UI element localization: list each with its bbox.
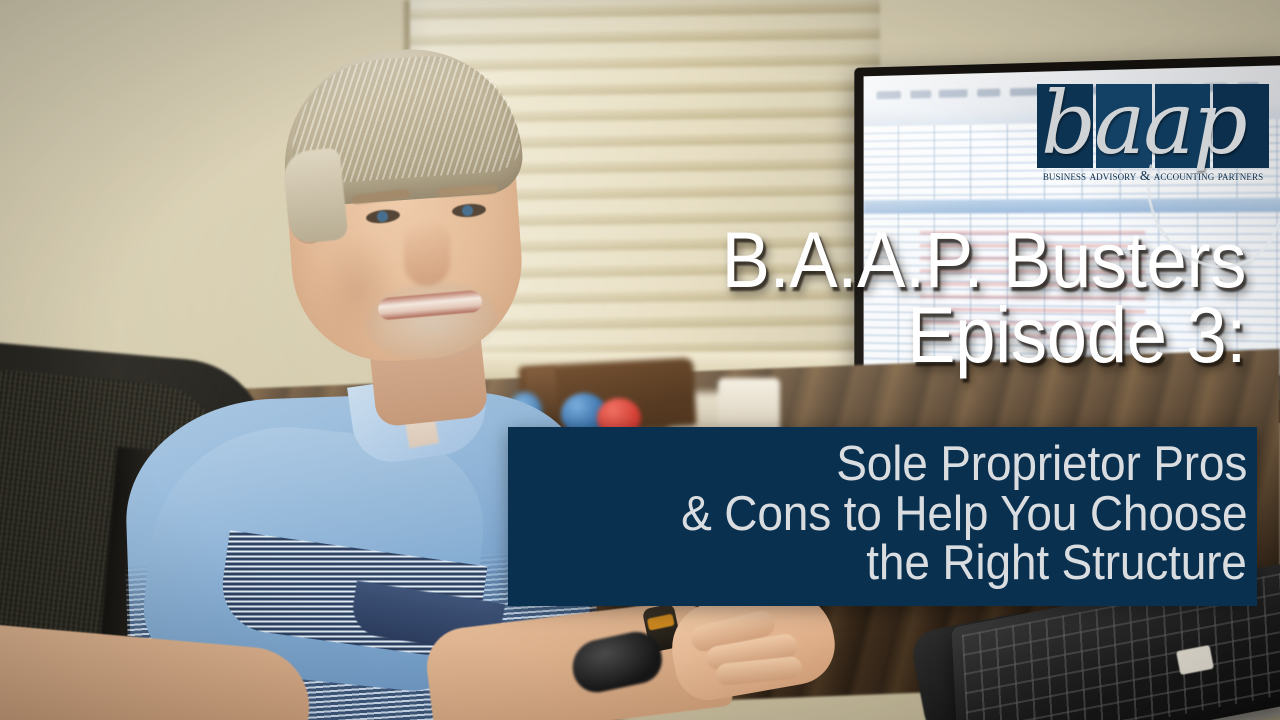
subtitle-line-2: & Cons to Help You Choose	[681, 490, 1247, 540]
baap-logo: baap Business Advisory & Accounting Part…	[1037, 84, 1269, 194]
hair-temple	[281, 147, 348, 245]
title-line-1: B.A.A.P. Busters	[602, 222, 1246, 297]
title-line-2: Episode 3:	[602, 297, 1246, 372]
logo-tagline: Business Advisory & Accounting Partners	[1037, 168, 1269, 184]
subtitle-line-3: the Right Structure	[867, 539, 1247, 589]
title-block: B.A.A.P. Busters Episode 3:	[546, 222, 1246, 372]
subtitle-panel: Sole Proprietor Pros & Cons to Help You …	[508, 427, 1257, 606]
nose	[404, 224, 450, 286]
logo-wordmark: baap	[1037, 72, 1269, 176]
subtitle-line-1: Sole Proprietor Pros	[836, 440, 1247, 490]
thumbnail-canvas: baap Business Advisory & Accounting Part…	[0, 0, 1280, 720]
